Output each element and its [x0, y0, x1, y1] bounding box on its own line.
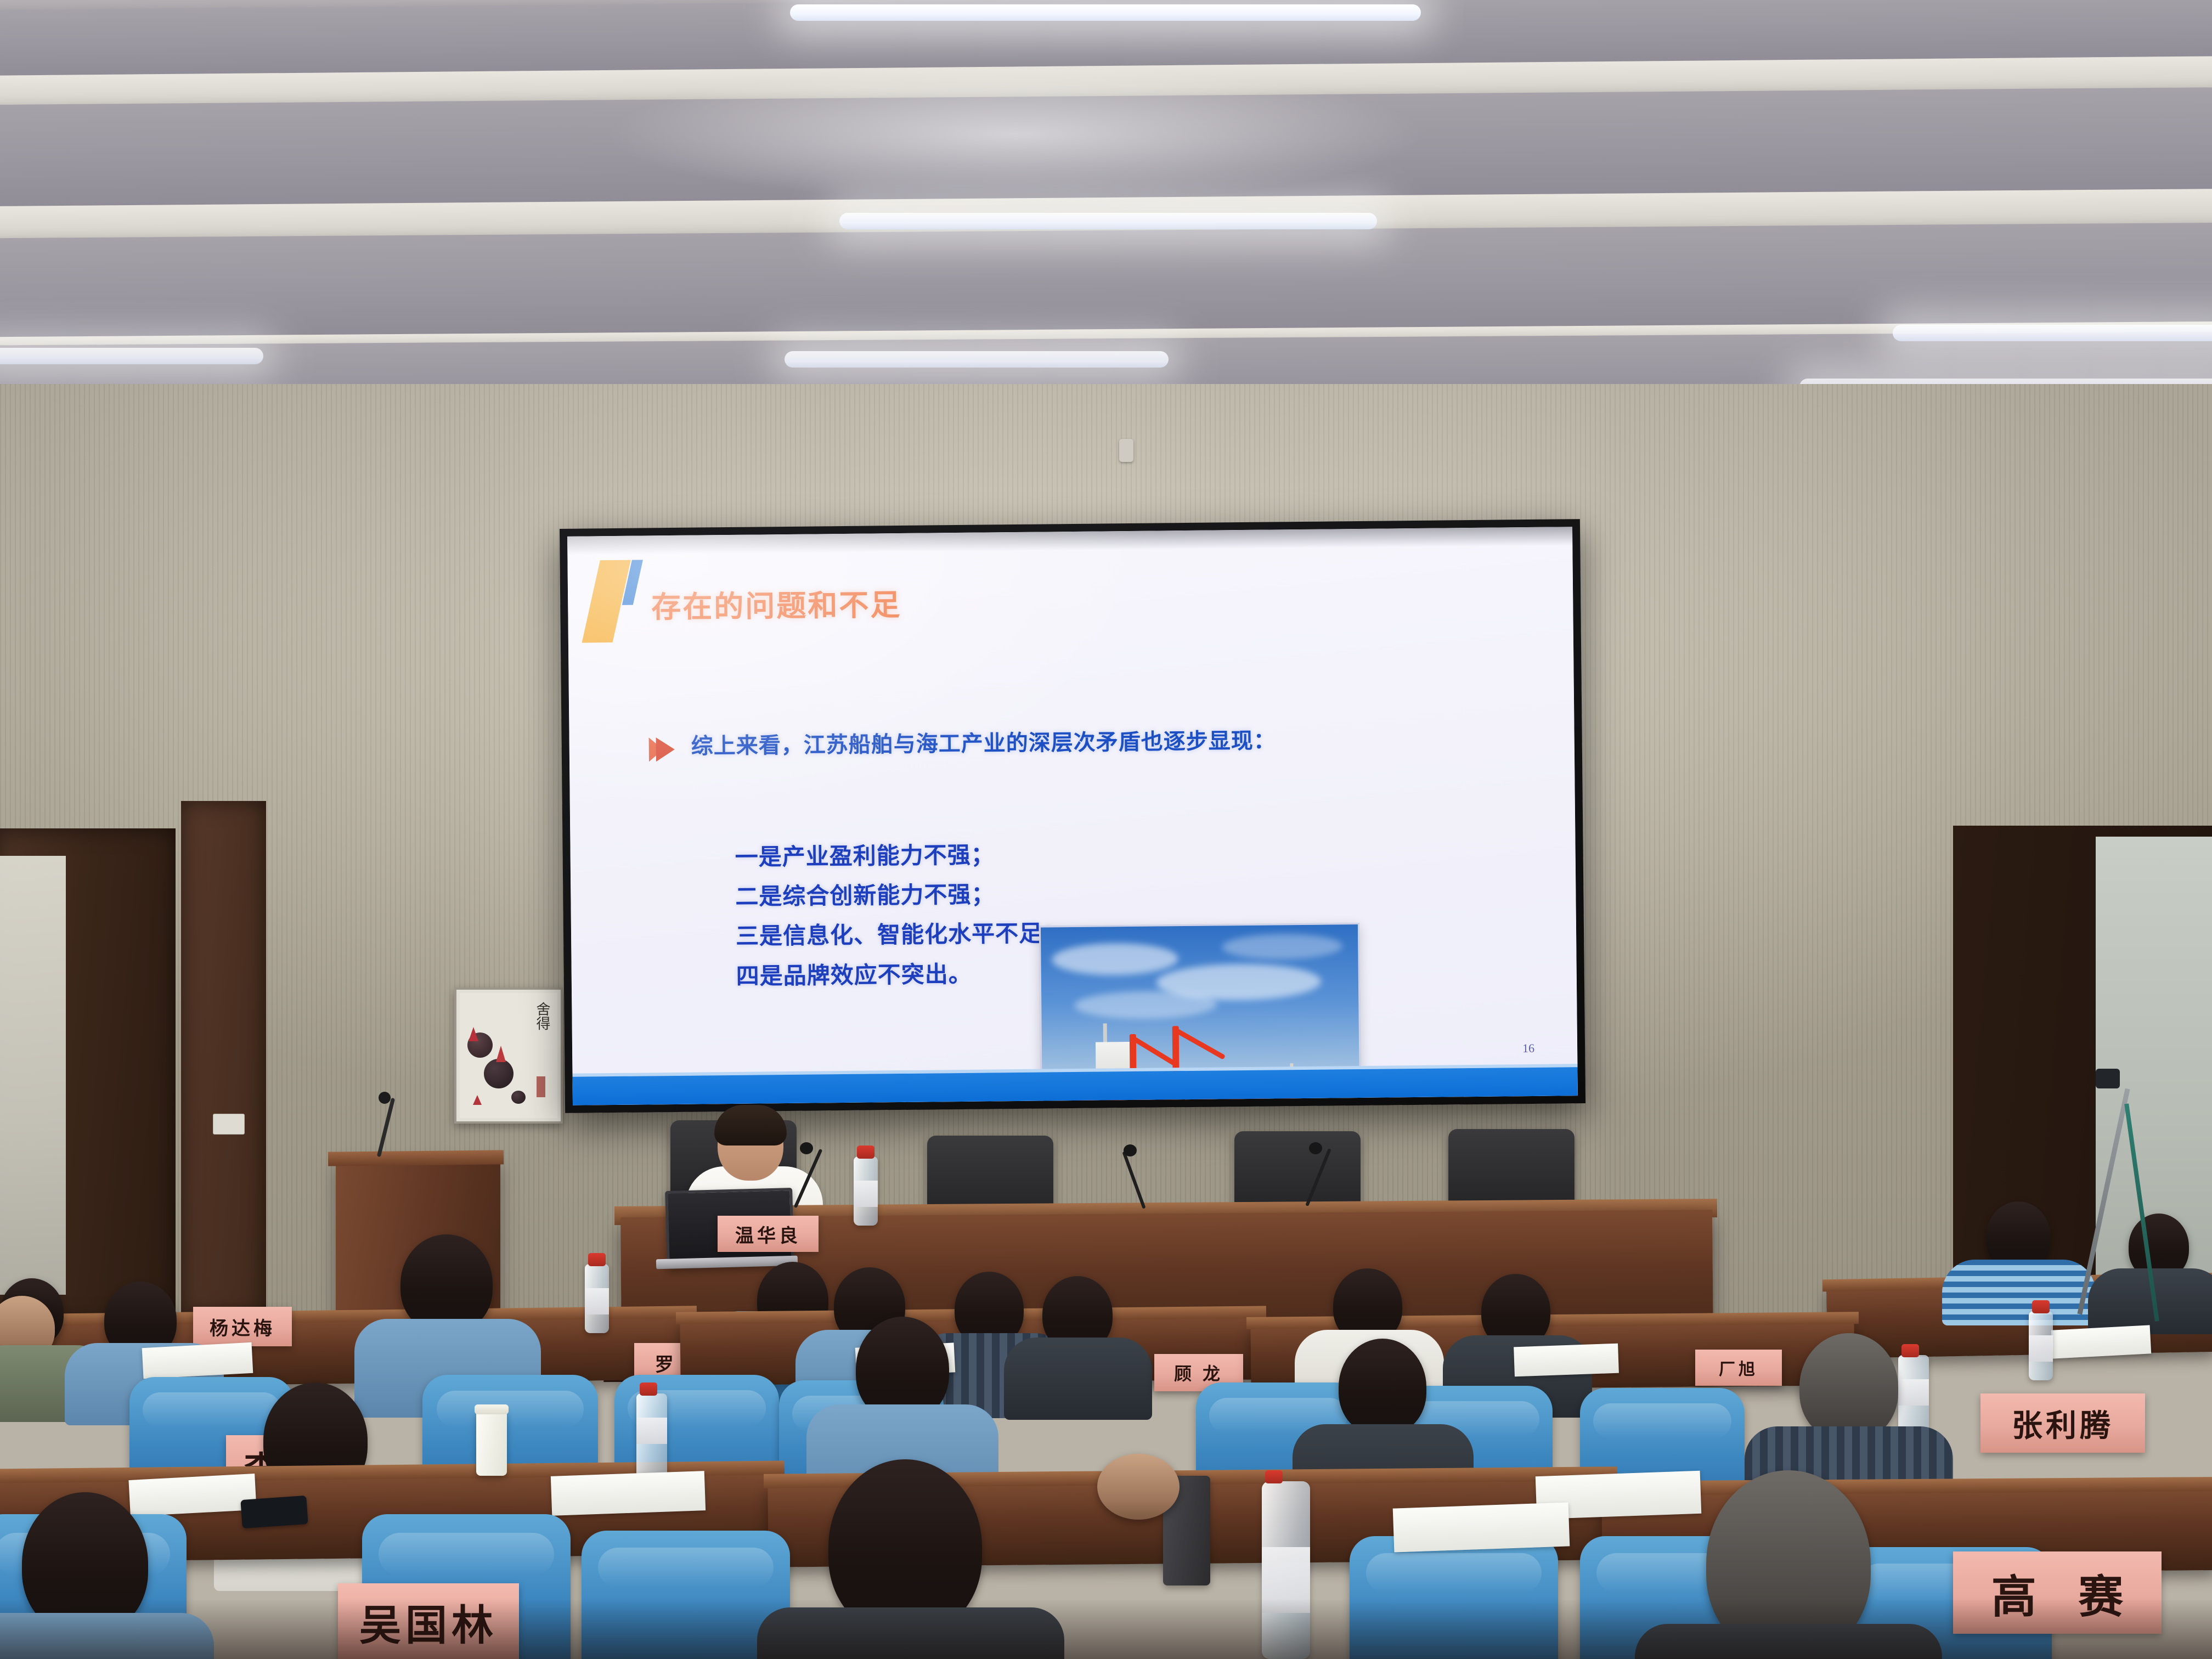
slide-bullet-item: 一是产业盈利能力不强； [735, 834, 1065, 877]
projection-screen: 存在的问题和不足 综上来看，江苏船舶与海工产业的深层次矛盾也逐步显现： 一是产业… [560, 519, 1585, 1113]
water-bottle [636, 1393, 667, 1479]
table-microphone-head-icon [1124, 1144, 1137, 1156]
document-paper [142, 1342, 253, 1379]
ceiling-light-icon [790, 4, 1421, 21]
ceiling [0, 0, 2212, 417]
door-left-glass-panel [0, 856, 66, 1295]
painting-calligraphy: 舍得 [522, 1002, 550, 1030]
presenter-hair [714, 1105, 787, 1145]
ceiling-beam [0, 222, 2212, 337]
bottle-label [854, 1181, 878, 1207]
nameplate: 吴国林 [338, 1583, 519, 1659]
water-bottle [585, 1264, 609, 1333]
audience-head [1339, 1339, 1426, 1435]
audience-shoulders [1635, 1624, 1942, 1659]
nameplate: 高 赛 [1953, 1551, 2162, 1634]
hand-raised [1097, 1454, 1180, 1520]
slide-bullet-list: 一是产业盈利能力不强； 二是综合创新能力不强； 三是信息化、智能化水平不足； 四… [735, 834, 1066, 996]
document-paper [128, 1474, 256, 1516]
presentation-slide: 存在的问题和不足 综上来看，江苏船舶与海工产业的深层次矛盾也逐步显现： 一是产业… [567, 527, 1578, 1105]
nameplate: 张利腾 [1980, 1393, 2145, 1453]
tripod-head [2096, 1069, 2120, 1088]
slide-bullet-item: 三是信息化、智能化水平不足； [736, 914, 1066, 957]
table-microphone-head-icon [800, 1142, 813, 1154]
framed-painting: 舍得 [454, 988, 563, 1124]
water-bottle-foreground [1262, 1481, 1310, 1659]
painting-ink-blob [511, 1091, 526, 1104]
slide-bullet-item: 二是综合创新能力不强； [735, 874, 1066, 917]
ceiling-light-icon [839, 213, 1377, 229]
arrow-bullet-icon [656, 737, 675, 761]
screen-glare [567, 527, 1173, 822]
bottle-label [636, 1418, 667, 1444]
painting-canvas: 舍得 [460, 993, 557, 1118]
document-paper [1393, 1502, 1570, 1552]
conference-room-scene: 舍得 存在的问题和不足 综上来看，江苏船舶与海工产业的深层次矛盾也逐步显现： 一… [0, 0, 2212, 1659]
document-paper [551, 1471, 706, 1516]
slide-lead-text: 综上来看，江苏船舶与海工产业的深层次矛盾也逐步显现： [691, 723, 1276, 760]
screen-glare-top [567, 527, 1572, 555]
ceiling-light-icon [0, 348, 263, 364]
nameplate-head-table: 温华良 [718, 1216, 819, 1252]
table-microphone-head-icon [1309, 1142, 1322, 1154]
ceiling-light-icon [1893, 325, 2212, 341]
photo-water [1042, 1102, 1361, 1105]
painting-ink-blob [484, 1059, 513, 1088]
slide-page-number: 16 [1522, 1041, 1534, 1056]
slide-bullet-item: 四是品牌效应不突出。 [736, 953, 1066, 996]
audience-shoulders [1942, 1260, 2096, 1325]
water-bottle [2029, 1311, 2053, 1380]
ceiling-beam [0, 87, 2212, 207]
painting-red-accent [473, 1095, 482, 1105]
audience-head [1799, 1333, 1898, 1441]
thermos-cup [476, 1410, 507, 1476]
door-left-inner[interactable] [181, 801, 266, 1317]
bottle-label [1898, 1379, 1929, 1406]
ceiling-light-icon [785, 351, 1169, 368]
wall-switch-plate[interactable] [213, 1114, 245, 1135]
cup-lid [475, 1404, 509, 1414]
slide-title: 存在的问题和不足 [651, 580, 902, 626]
bottle-label [1262, 1547, 1310, 1613]
nameplate: 杨达梅 [193, 1307, 292, 1346]
painting-red-accent [496, 1046, 506, 1062]
screen-surface: 存在的问题和不足 综上来看，江苏船舶与海工产业的深层次矛盾也逐步显现： 一是产业… [567, 527, 1578, 1105]
audience-shoulders [1004, 1338, 1152, 1420]
water-bottle [854, 1156, 878, 1226]
audience-head [400, 1234, 493, 1333]
podium-top [328, 1150, 504, 1166]
bottle-label [585, 1288, 609, 1314]
smoke-detector-icon [1119, 439, 1133, 462]
audience-shoulders [757, 1607, 1064, 1659]
audience-chair [1350, 1536, 1558, 1659]
document-paper [2051, 1325, 2151, 1358]
painting-seal-icon [537, 1076, 545, 1097]
audience-shoulders [0, 1613, 214, 1659]
podium-microphone-head-icon [379, 1092, 391, 1104]
smartphone[interactable] [240, 1496, 308, 1528]
bottle-label [2029, 1335, 2053, 1362]
nameplate: 厂旭 [1695, 1350, 1782, 1386]
document-paper [1514, 1344, 1619, 1377]
